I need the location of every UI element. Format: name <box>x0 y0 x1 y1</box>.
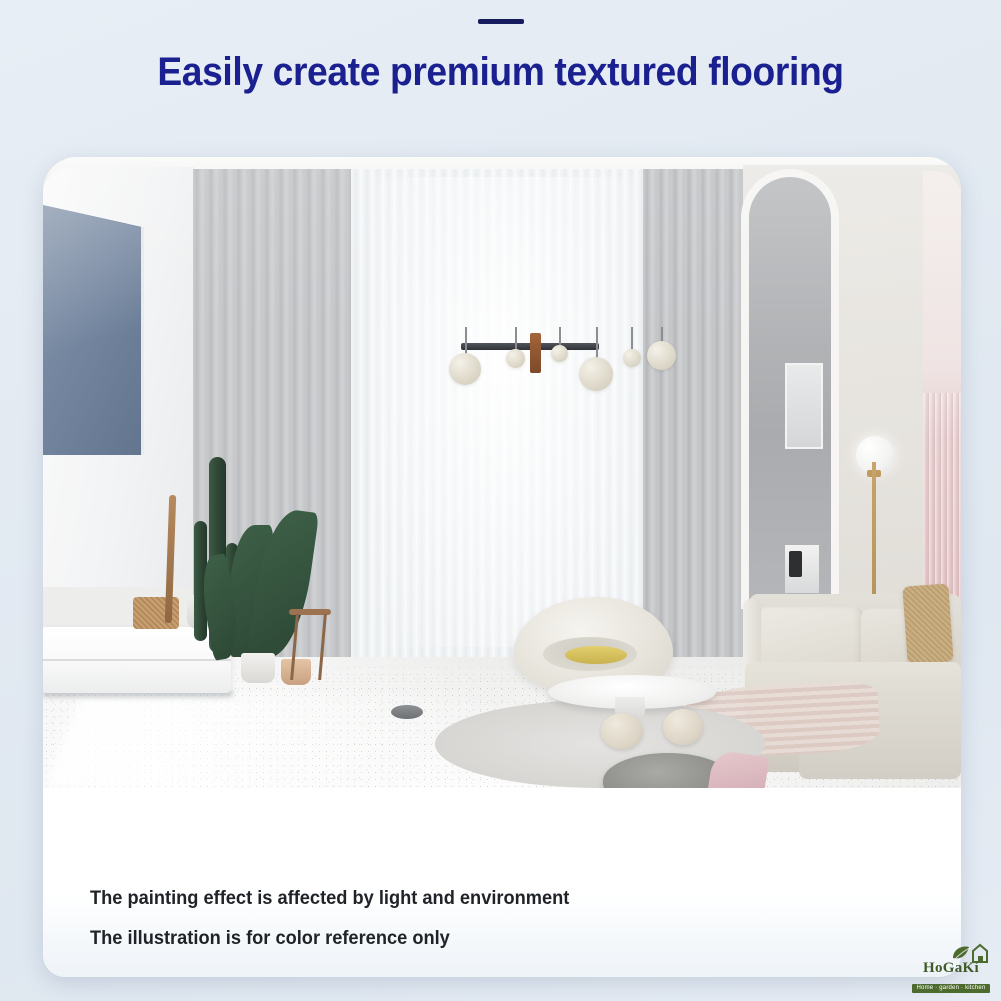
watermark-tagline: Home · garden · kitchen <box>912 984 991 993</box>
television-glare <box>43 205 141 455</box>
caption-area: The painting effect is affected by light… <box>43 788 961 977</box>
white-plant-pot <box>241 653 275 683</box>
kitchen-appliance <box>785 545 819 593</box>
beige-pouf <box>663 709 703 745</box>
wooden-plant-stool <box>289 609 331 683</box>
caption-line-2: The illustration is for color reference … <box>90 928 450 950</box>
pendant-globe <box>506 349 525 368</box>
pendant-globe <box>551 345 568 362</box>
header-divider-dash <box>478 19 524 24</box>
floor-decor-object <box>391 705 423 719</box>
content-card: The painting effect is affected by light… <box>43 157 961 977</box>
living-room-interior-photo <box>43 157 961 788</box>
pendant-wood-block <box>530 333 541 373</box>
watermark: HoGaKi Home · garden · kitchen <box>905 944 997 994</box>
pink-wall-panel-lines <box>923 393 961 601</box>
window-light-glow <box>373 177 633 647</box>
pendant-globe <box>449 353 481 385</box>
leaf-house-logo-icon <box>951 942 991 966</box>
pendant-globe <box>647 341 676 370</box>
pendant-globe <box>579 357 613 391</box>
pendant-globe <box>623 349 641 367</box>
pendant-rod <box>596 327 598 361</box>
interior-window <box>785 363 823 449</box>
page-title: Easily create premium textured flooring <box>35 50 966 95</box>
caption-line-1: The painting effect is affected by light… <box>90 888 569 910</box>
tan-textured-pillow <box>902 583 953 664</box>
beige-pouf <box>601 713 643 749</box>
yellow-lumbar-cushion <box>565 646 627 664</box>
